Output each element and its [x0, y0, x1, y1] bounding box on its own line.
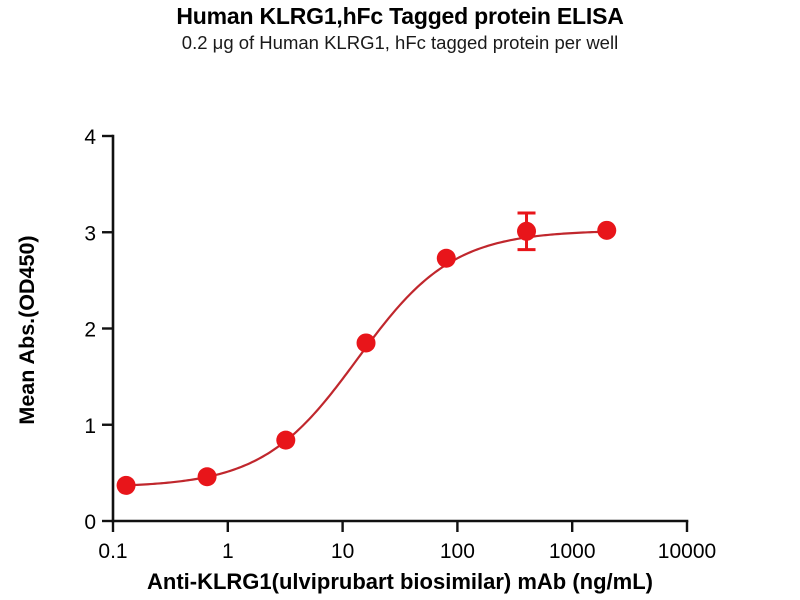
- x-tick-label: 1: [222, 540, 234, 563]
- y-tick-label: 2: [84, 319, 96, 342]
- x-tick-label: 10: [331, 540, 354, 563]
- y-tick-group: 01234: [84, 126, 113, 534]
- plot-container: 01234 0.1110100100010000 Mean Abs.(OD450…: [0, 0, 800, 600]
- x-tick-label: 10000: [658, 540, 716, 563]
- chart-page: Human KLRG1,hFc Tagged protein ELISA 0.2…: [0, 0, 800, 600]
- y-tick-label: 0: [84, 511, 96, 534]
- elisa-dose-response-plot: 01234 0.1110100100010000 Mean Abs.(OD450…: [0, 0, 800, 600]
- data-point-marker: [597, 221, 616, 240]
- data-point-marker: [437, 249, 456, 268]
- data-point-marker: [117, 476, 136, 495]
- y-tick-label: 4: [84, 126, 96, 149]
- y-tick-label: 3: [84, 222, 96, 245]
- y-axis-title: Mean Abs.(OD450): [15, 235, 39, 424]
- x-tick-label: 100: [440, 540, 475, 563]
- data-point-marker: [517, 222, 536, 241]
- x-axis-title: Anti-KLRG1(ulviprubart biosimilar) mAb (…: [147, 569, 653, 594]
- x-tick-group: 0.1110100100010000: [98, 521, 716, 563]
- data-point-marker: [357, 333, 376, 352]
- x-tick-label: 1000: [549, 540, 596, 563]
- data-point-marker: [198, 467, 217, 486]
- axes-group: [113, 136, 687, 521]
- data-point-group: [117, 221, 617, 495]
- y-tick-label: 1: [84, 415, 96, 438]
- data-point-marker: [276, 431, 295, 450]
- x-tick-label: 0.1: [98, 540, 127, 563]
- fit-curve: [126, 232, 605, 486]
